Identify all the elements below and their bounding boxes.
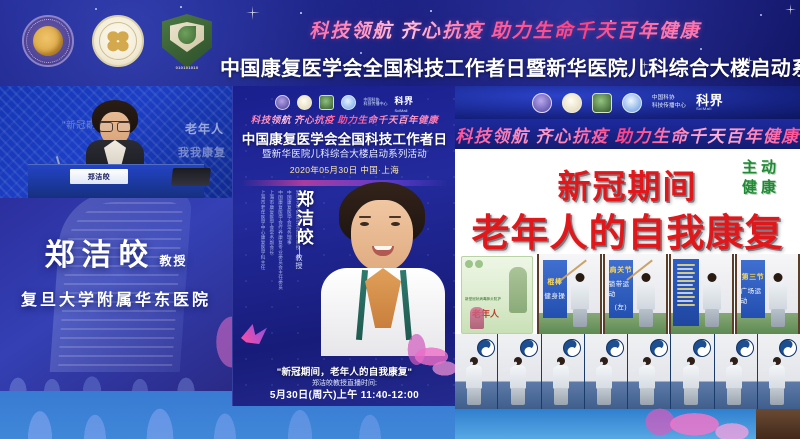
backdrop-text-primary: 老年人 xyxy=(185,120,224,137)
slide-slogan: 科技领航 齐心抗疫 助力生命千天百年健康 xyxy=(455,122,800,147)
slide-cast-line2: 科技传播中心 xyxy=(652,103,686,110)
taichi-cell xyxy=(758,334,800,410)
poster-logo-row: 中国科协 科技传播中心 科界 SciMall xyxy=(233,91,455,113)
xinhua-hospital-logo xyxy=(92,15,144,67)
poster-subtitle: 暨新华医院儿科综合大楼启动系列活动 xyxy=(233,146,455,160)
header-slogan: 科技领航 齐心抗疫 助力生命千天百年健康 xyxy=(220,16,790,43)
frame-banner-note: (左) xyxy=(615,301,627,311)
frame-banner-top: 肩关节 xyxy=(610,267,633,275)
speaker-organization: 复旦大学附属华东医院 xyxy=(0,286,232,310)
yin-yang-icon xyxy=(736,339,754,357)
header-logo-group: 010101010 xyxy=(22,14,212,68)
poster-title: 中国康复医学会全国科技工作者日 xyxy=(233,128,455,148)
bottom-right-block xyxy=(756,409,800,439)
credential-item: 中国康复医学会疗养康复专业委员会主任委员 xyxy=(278,190,284,308)
speaker-rank-text: 教授 xyxy=(159,254,187,268)
header-title: 中国康复医学会全国科技工作者日暨新华医院儿科综合大楼启动系列活动 xyxy=(220,52,790,81)
broadcast-screen: 010101010 科技领航 齐心抗疫 助力生命千天百年健康 中国康复医学会全国… xyxy=(0,0,800,439)
speaker-nameplate-text: 郑洁皎 xyxy=(88,172,111,182)
event-poster-panel[interactable]: 中国科协 科技传播中心 科界 SciMall 科技领航 齐心抗疫 助力生命千天百… xyxy=(232,86,455,406)
speaker-video-panel[interactable]: 老年人 我我康复 "新冠期间" 郑洁皎 xyxy=(0,86,232,391)
stage-body: 老年人 我我康复 "新冠期间" 郑洁皎 xyxy=(0,86,800,439)
exercise-person-figure xyxy=(701,273,723,329)
slide-association-logo xyxy=(532,93,552,113)
slide-scimall-logo: 科界 SciMall xyxy=(696,94,723,111)
exercise-person-figure xyxy=(635,273,657,329)
exercise-person-figure xyxy=(767,273,789,329)
taichi-cell xyxy=(542,334,584,410)
slide-logo-header: 中国科协 科技传播中心 科界 SciMall xyxy=(455,86,800,119)
poster-speaker-rank: 教授 xyxy=(293,254,303,270)
credential-item: 上海市康复医学会常务副会长 xyxy=(269,190,275,308)
exercise-person-figure xyxy=(569,273,591,329)
speaker-identity-card: 郑洁皎教授 复旦大学附属华东医院 xyxy=(0,198,232,391)
slide-book-cover: 新型冠状病毒肺炎防护 老年人 xyxy=(461,256,533,334)
poster-shield-logo xyxy=(319,95,334,110)
yin-yang-icon xyxy=(563,339,581,357)
poster-hospital-logo xyxy=(297,95,312,110)
taichi-cell xyxy=(498,334,540,410)
yin-yang-icon xyxy=(477,339,495,357)
frame-banner-top: 第三节 xyxy=(742,274,765,282)
yin-yang-icon xyxy=(606,339,624,357)
shield-logo-label: 010101010 xyxy=(160,65,214,70)
yin-yang-icon xyxy=(693,339,711,357)
poster-lecture-time: 5月30日(周六)上午 11:40-12:00 xyxy=(233,386,455,401)
exercise-frame-banner: 肩关节 锁带运动 (左) xyxy=(609,260,633,318)
exercise-frame-banner: 棍棒 健身操 xyxy=(543,260,567,318)
rehabilitation-association-logo xyxy=(22,15,74,67)
poster-cast-logo xyxy=(341,95,356,110)
poster-cast-text: 中国科协 科技传播中心 xyxy=(363,98,387,107)
exercise-frame: 棍棒 健身操 xyxy=(537,254,602,334)
slide-exercise-frame-strip: 棍棒 健身操 肩关节 锁带运动 (左) xyxy=(537,254,800,334)
poster-cast-line2: 科技传播中心 xyxy=(363,102,387,106)
slide-slogan-bar: 科技领航 齐心抗疫 助力生命千天百年健康 xyxy=(455,119,800,149)
header-text-block: 科技领航 齐心抗疫 助力生命千天百年健康 中国康复医学会全国科技工作者日暨新华医… xyxy=(220,16,790,81)
poster-association-logo xyxy=(275,95,290,110)
yin-yang-icon xyxy=(650,339,668,357)
frame-banner-bottom: 健身操 xyxy=(544,290,565,300)
frame-banner-bottom: 广场运动 xyxy=(741,285,765,305)
poster-scimall-logo: 科界 SciMall xyxy=(394,91,413,113)
slide-green-badge: 主动 健康 xyxy=(732,158,790,199)
speaker-live-video[interactable]: 老年人 我我康复 "新冠期间" 郑洁皎 xyxy=(0,86,232,198)
slide-cast-logo xyxy=(622,93,642,113)
slide-cast-text: 中国科协 科技传播中心 xyxy=(652,95,686,110)
slide-headline-secondary: 老年人的自我康复 xyxy=(455,202,800,257)
slide-cast-line1: 中国科协 xyxy=(652,95,686,102)
backdrop-text-secondary: 我我康复 xyxy=(178,144,226,160)
exercise-frame-banner: 第三节 广场运动 xyxy=(741,260,765,318)
bottom-lotus-decoration xyxy=(612,399,762,439)
yin-yang-icon xyxy=(779,339,797,357)
taichi-cell xyxy=(455,334,497,410)
exercise-frame xyxy=(669,254,734,334)
shield-emblem-logo: 010101010 xyxy=(162,14,212,68)
speaker-nameplate: 郑洁皎 xyxy=(70,169,128,184)
poster-slogan: 科技领航 齐心抗疫 助力生命千天百年健康 xyxy=(233,112,455,126)
poster-date-location: 2020年05月30日 中国·上海 xyxy=(233,164,455,176)
slide-bottom-strip xyxy=(455,409,800,439)
exercise-frame: 第三节 广场运动 xyxy=(735,254,800,334)
exercise-frame: 肩关节 锁带运动 (左) xyxy=(603,254,668,334)
speaker-name-text: 郑洁皎 xyxy=(44,239,155,272)
poster-scimall-brand: 科界 xyxy=(394,96,413,106)
speaker-name: 郑洁皎教授 xyxy=(0,230,232,274)
exercise-frame-notes-banner xyxy=(673,259,699,326)
yin-yang-icon xyxy=(520,339,538,357)
laptop-icon xyxy=(171,168,211,186)
frame-banner-bottom: 锁带运动 xyxy=(609,278,633,298)
shared-slide-panel[interactable]: 中国科协 科技传播中心 科界 SciMall 科技领航 齐心抗疫 助力生命千天百… xyxy=(455,86,800,439)
event-header-banner: 010101010 科技领航 齐心抗疫 助力生命千天百年健康 中国康复医学会全国… xyxy=(0,0,800,86)
pink-glow-decoration xyxy=(192,307,232,377)
credential-item: 上海市老年医学中心康复医学科主任 xyxy=(260,190,266,308)
slide-hospital-logo xyxy=(562,93,582,113)
book-title-small: 新型冠状病毒肺炎防护 xyxy=(465,297,515,301)
poster-speaker-name: 郑洁皎 xyxy=(291,190,316,247)
poster-lecture-title: "新冠期间，老年人的自我康复" xyxy=(233,364,455,378)
slide-shield-logo xyxy=(592,93,612,113)
